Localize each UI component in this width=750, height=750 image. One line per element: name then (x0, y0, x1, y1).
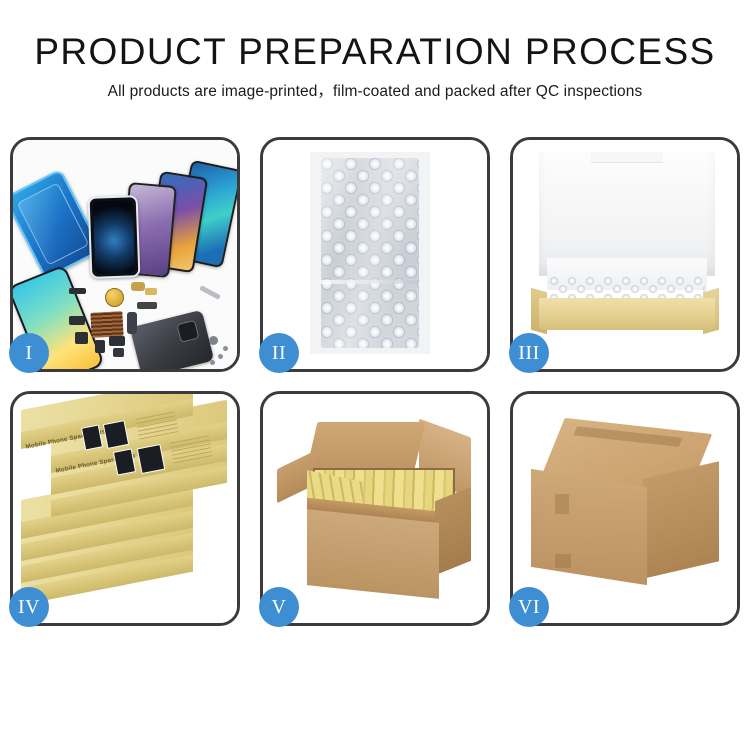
process-step-panel-4[interactable]: Mobile Phone Spare Parts Mobile Phone Sp… (10, 391, 240, 626)
component-part (69, 316, 85, 325)
phone-device-1 (88, 195, 141, 279)
component-screw (210, 360, 215, 365)
carton-front-panel (531, 469, 647, 585)
box-front-panel (539, 298, 715, 330)
component-part (137, 302, 157, 309)
plastic-sheen (321, 158, 419, 348)
component-part (127, 312, 137, 334)
process-step-panel-2[interactable]: II (260, 137, 490, 372)
page-header: PRODUCT PREPARATION PROCESS All products… (0, 0, 750, 104)
step-5-image (263, 394, 487, 623)
component-coin (105, 288, 124, 307)
page-title: PRODUCT PREPARATION PROCESS (0, 30, 750, 74)
retail-box-stack: Mobile Phone Spare Parts Mobile Phone Sp… (21, 416, 233, 612)
component-screw (218, 354, 223, 359)
step-6-image (513, 394, 737, 623)
step-badge-3: III (509, 333, 549, 373)
carton-front-panel (307, 509, 439, 599)
step-1-image (13, 140, 237, 369)
component-part (75, 332, 88, 344)
carton-crease (555, 554, 571, 568)
component-part (209, 336, 218, 345)
bubble-wrapped-product (321, 158, 419, 348)
process-step-panel-6[interactable]: VI (510, 391, 740, 626)
box-screen-image (103, 420, 129, 449)
step-3-image (513, 140, 737, 369)
component-part (145, 288, 157, 295)
process-step-panel-3[interactable]: III (510, 137, 740, 372)
component-part (95, 340, 105, 353)
sealed-shipping-carton (529, 426, 721, 592)
process-step-panel-1[interactable]: I (10, 137, 240, 372)
page-subtitle: All products are image-printed，film-coat… (0, 80, 750, 104)
component-chip-grid (90, 311, 123, 338)
box-screen-image (137, 444, 166, 474)
step-badge-4: IV (9, 587, 49, 627)
step-2-image (263, 140, 487, 369)
carton-side-panel (435, 487, 471, 576)
component-part (69, 288, 86, 294)
step-badge-2: II (259, 333, 299, 373)
component-screw (223, 346, 228, 351)
process-step-grid: I II III (10, 137, 740, 626)
process-step-panel-5[interactable]: V (260, 391, 490, 626)
step-badge-5: V (259, 587, 299, 627)
carton-hand-hole (555, 494, 569, 514)
component-part (131, 282, 145, 291)
open-shipping-carton (277, 420, 475, 596)
component-part (113, 348, 124, 357)
step-4-image: Mobile Phone Spare Parts Mobile Phone Sp… (13, 394, 237, 623)
step-badge-1: I (9, 333, 49, 373)
component-part (109, 336, 125, 346)
step-badge-6: VI (509, 587, 549, 627)
carton-side-panel (643, 461, 719, 579)
